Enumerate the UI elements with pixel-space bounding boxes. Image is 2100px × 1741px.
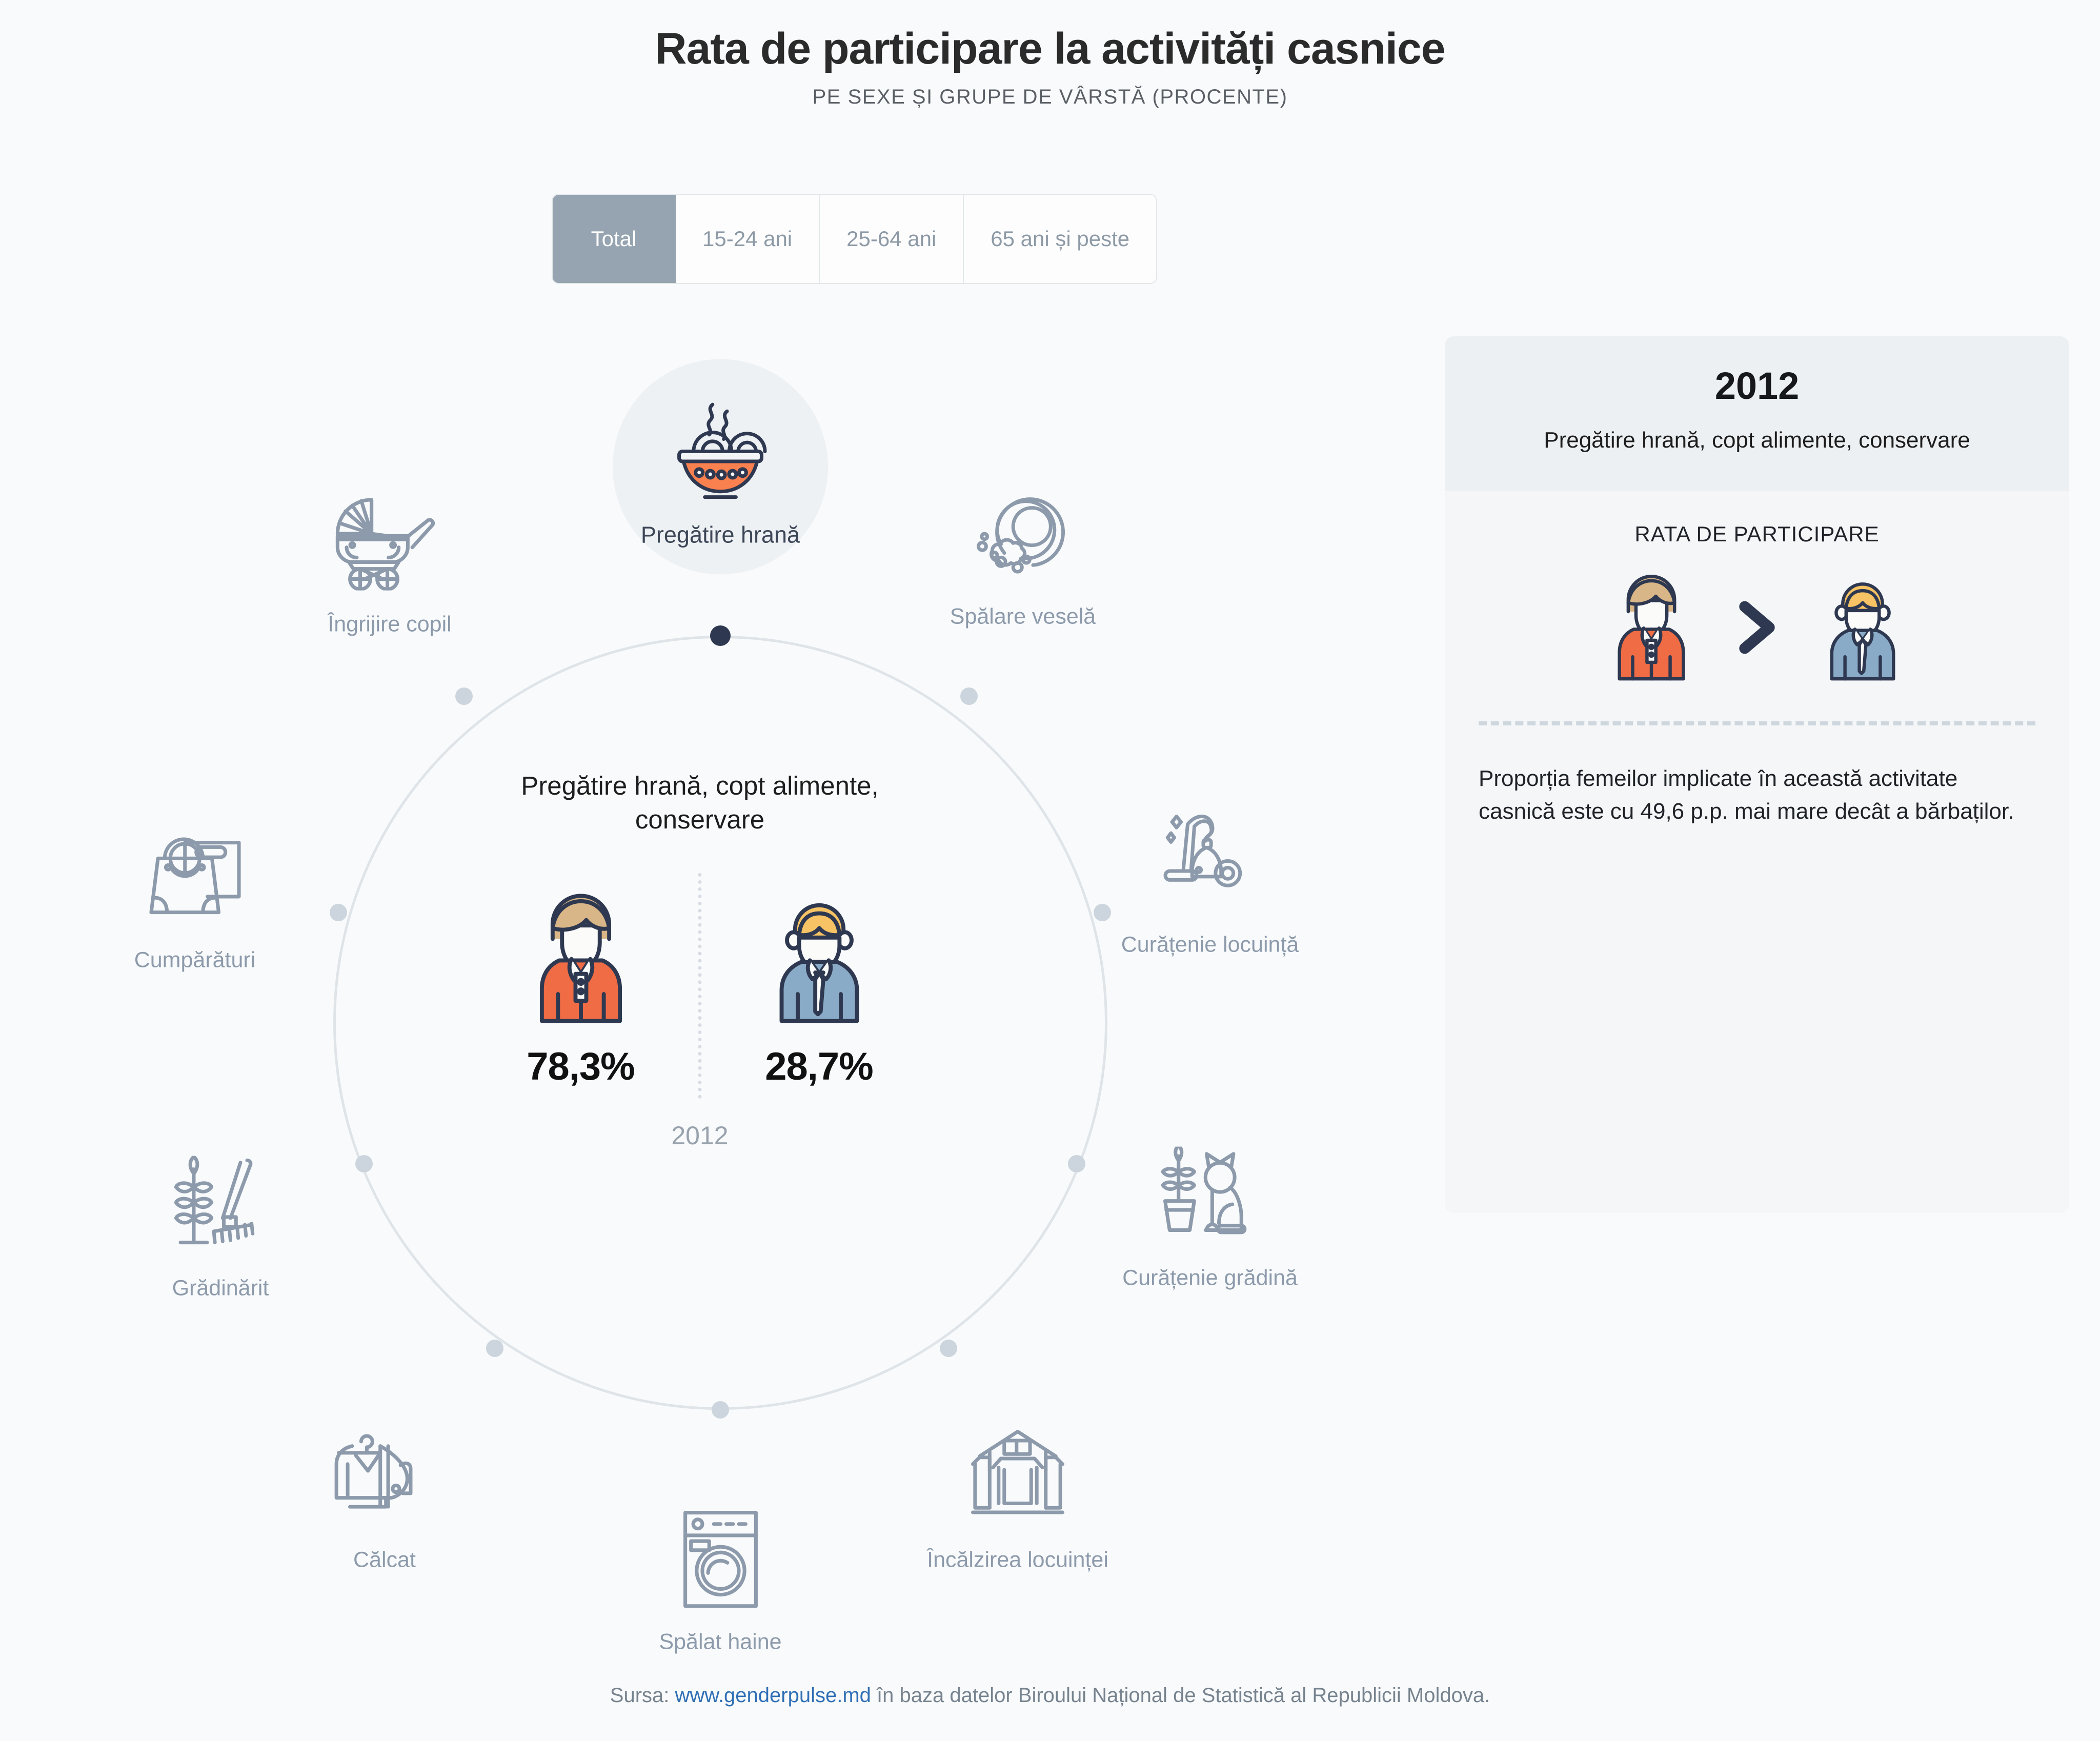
page-header: Rata de participare la activități casnic… [0,25,2100,109]
wheel-dot-gradinarit[interactable] [355,1155,373,1172]
tab-25-64[interactable]: 25-64 ani [820,195,964,283]
wheel-node-label: Grădinărit [113,1276,328,1302]
tab-65-plus[interactable]: 65 ani și peste [964,195,1156,283]
wheel-node-label: Curățenie locuință [1102,932,1318,958]
detail-panel-header: 2012 Pregătire hrană, copt alimente, con… [1445,336,2069,491]
tab-15-24[interactable]: 15-24 ani [676,195,820,283]
stroller-icon [282,475,497,609]
center-activity-label: Pregătire hrană, copt alimente, conserva… [461,769,938,837]
gender-comparison: 78,3% [461,888,938,1089]
source-link[interactable]: www.genderpulse.md [675,1684,871,1707]
female-percentage: 78,3% [527,1044,635,1089]
shopping-bag-icon [87,811,302,944]
wheel-node-gradinarit[interactable]: Grădinărit [113,1139,328,1302]
wheel-dot-spalare-vesela[interactable] [960,687,978,705]
source-footer: Sursa: www.genderpulse.md în baza datelo… [0,1684,2100,1707]
panel-subtitle: RATA DE PARTICIPARE [1479,522,2035,546]
wheel-node-incalzirea-locuintei[interactable]: Încălzirea locuinței [910,1411,1125,1573]
panel-male-avatar [1819,570,1907,684]
noodle-bowl-icon [613,384,828,518]
gender-divider [698,873,702,1099]
wheel-node-pregatire-hrana[interactable]: Pregătire hrană [613,384,828,548]
male-column: 28,7% [700,888,938,1089]
plant-cat-icon [1102,1129,1318,1262]
panel-note: Proporția femeilor implicate în această … [1479,762,2035,828]
wheel-dot-cumparaturi[interactable] [330,904,347,921]
detail-panel: 2012 Pregătire hrană, copt alimente, con… [1445,336,2069,1213]
wheel-node-label: Încălzirea locuinței [910,1547,1125,1573]
page-title: Rata de participare la activități casnic… [0,25,2100,73]
panel-activity: Pregătire hrană, copt alimente, conserva… [1481,425,2033,455]
panel-year: 2012 [1481,364,2033,408]
wheel-node-cumparaturi[interactable]: Cumpărături [87,811,302,974]
source-prefix: Sursa: [610,1684,675,1707]
wheel-node-label: Pregătire hrană [613,521,828,548]
wheel-node-spalat-haine[interactable]: Spălat haine [613,1493,828,1655]
wheel-center-content: Pregătire hrană, copt alimente, conserva… [461,769,938,1150]
female-column: 78,3% [461,888,700,1089]
infographic-page: Rata de participare la activități casnic… [0,0,2100,1741]
shirt-iron-icon [277,1411,492,1544]
plant-rake-icon [113,1139,328,1272]
wheel-node-label: Călcat [277,1547,492,1573]
female-avatar [527,888,635,1027]
wheel-node-ingrijire-copil[interactable]: Îngrijire copil [282,475,497,638]
wheel-node-label: Spălat haine [613,1629,828,1655]
wheel-dot-calcat[interactable] [486,1340,503,1357]
greater-than-icon [1732,599,1782,656]
wheel-node-spalare-vesela[interactable]: Spălare veselă [915,468,1130,630]
wheel-node-label: Spălare veselă [915,604,1130,630]
house-icon [910,1411,1125,1544]
panel-female-avatar [1607,570,1695,684]
wheel-node-label: Îngrijire copil [282,612,497,638]
page-subtitle: PE SEXE ȘI GRUPE DE VÂRSTĂ (PROCENTE) [0,86,2100,109]
wheel-node-calcat[interactable]: Călcat [277,1411,492,1573]
wheel-dot-ingrijire-copil[interactable] [455,687,473,705]
dishes-bubbles-icon [915,468,1130,601]
wheel-dot-incalzirea-locuintei[interactable] [940,1340,957,1357]
wheel-node-label: Curățenie grădină [1102,1265,1318,1291]
male-percentage: 28,7% [765,1044,873,1089]
center-year: 2012 [461,1121,938,1150]
age-group-tabs[interactable]: Total 15-24 ani 25-64 ani 65 ani și pest… [553,195,1156,283]
panel-gender-comparison [1479,570,2035,684]
tab-total[interactable]: Total [553,195,676,283]
wheel-node-label: Cumpărături [87,947,302,974]
detail-panel-body: RATA DE PARTICIPARE [1445,491,2069,828]
washing-machine-icon [613,1493,828,1626]
male-avatar [765,888,873,1027]
wheel-dot-curatenie-gradina[interactable] [1068,1155,1085,1172]
wheel-dot-pregatire-hrana[interactable] [710,625,731,646]
wheel-node-curatenie-gradina[interactable]: Curățenie grădină [1102,1129,1318,1291]
wheel-dot-spalat-haine[interactable] [712,1401,729,1419]
source-suffix: în baza datelor Biroului Național de Sta… [871,1684,1490,1707]
wheel-node-curatenie-locuinta[interactable]: Curățenie locuință [1102,796,1318,958]
vacuum-cleaner-icon [1102,796,1318,929]
panel-divider [1479,721,2035,725]
